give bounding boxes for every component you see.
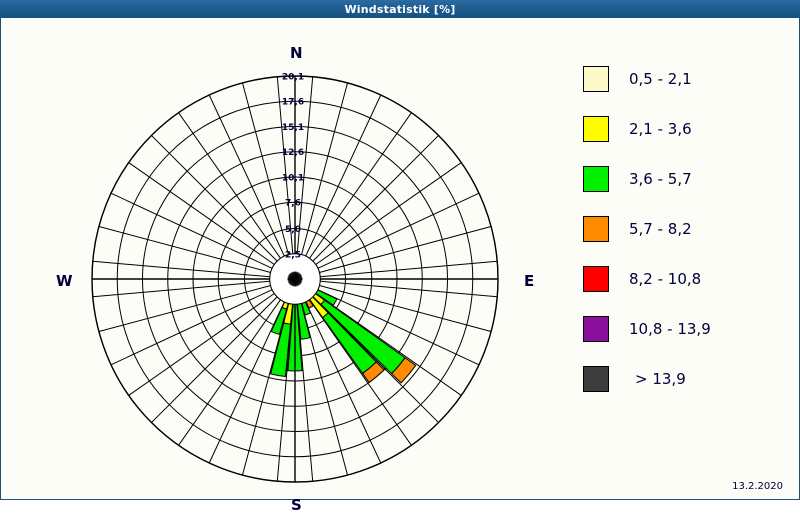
grid-spoke	[99, 286, 271, 332]
windrose-window: Windstatistik [%] 2,55,07,610,112,615,11…	[0, 0, 800, 500]
legend-item[interactable]: 10,8 - 13,9	[583, 304, 793, 354]
compass-label-east: E	[524, 272, 534, 290]
legend-item[interactable]: > 13,9	[583, 354, 793, 404]
radial-tick-label: 20,1	[282, 73, 304, 83]
compass-label-west: W	[56, 272, 73, 290]
calm-center	[270, 254, 320, 304]
grid-spoke	[320, 281, 497, 296]
grid-spoke	[151, 135, 277, 261]
radial-tick-label: 7,6	[285, 199, 301, 209]
grid-spoke	[320, 261, 497, 276]
legend-item-label: 2,1 - 3,6	[629, 120, 692, 138]
grid-spoke	[302, 83, 348, 255]
radial-tick-label: 12,6	[282, 148, 304, 158]
radial-tick-label: 15,1	[282, 123, 304, 133]
grid-spoke	[129, 293, 275, 395]
grid-spoke	[242, 303, 288, 475]
compass-label-south: S	[291, 496, 302, 514]
centre-spoke	[294, 272, 295, 279]
legend-color-swatch	[583, 266, 609, 292]
windrose-svg: 2,55,07,610,112,615,117,620,1	[1, 18, 561, 500]
legend-item[interactable]: 8,2 - 10,8	[583, 254, 793, 304]
legend-color-swatch	[583, 366, 609, 392]
grid-spoke	[151, 297, 277, 423]
speed-legend: 0,5 - 2,12,1 - 3,63,6 - 5,75,7 - 8,28,2 …	[583, 54, 793, 404]
grid-spoke	[313, 297, 439, 423]
legend-color-swatch	[583, 216, 609, 242]
radial-tick-label: 10,1	[282, 173, 304, 183]
legend-item-label: 8,2 - 10,8	[629, 270, 701, 288]
radial-tick-label: 17,6	[282, 98, 304, 108]
grid-spoke	[313, 135, 439, 261]
grid-spoke	[129, 163, 275, 265]
legend-item-label: 3,6 - 5,7	[629, 170, 692, 188]
radial-tick-label: 5,0	[285, 225, 301, 235]
radial-tick-label: 2,5	[285, 250, 301, 260]
footer-date: 13.2.2020	[732, 481, 783, 492]
window-client-area: 2,55,07,610,112,615,117,620,1 N S E W 0,…	[0, 18, 800, 500]
windrose-plot: 2,55,07,610,112,615,117,620,1	[1, 18, 561, 500]
window-title-bar: Windstatistik [%]	[0, 0, 800, 18]
legend-color-swatch	[583, 166, 609, 192]
window-title: Windstatistik [%]	[344, 3, 455, 16]
grid-spoke	[242, 83, 288, 255]
legend-item[interactable]: 3,6 - 5,7	[583, 154, 793, 204]
legend-item[interactable]: 0,5 - 2,1	[583, 54, 793, 104]
grid-spoke	[179, 300, 281, 446]
legend-color-swatch	[583, 66, 609, 92]
grid-spoke	[309, 113, 411, 259]
legend-color-swatch	[583, 316, 609, 342]
legend-color-swatch	[583, 116, 609, 142]
legend-item-label: 10,8 - 13,9	[629, 320, 711, 338]
grid-spoke	[99, 226, 271, 272]
grid-spoke	[93, 261, 270, 276]
grid-spoke	[316, 163, 462, 265]
compass-label-north: N	[290, 44, 303, 62]
legend-item[interactable]: 2,1 - 3,6	[583, 104, 793, 154]
legend-item-label: 5,7 - 8,2	[629, 220, 692, 238]
grid-spoke	[93, 281, 270, 296]
grid-spoke	[319, 226, 491, 272]
legend-item[interactable]: 5,7 - 8,2	[583, 204, 793, 254]
legend-item-label: 0,5 - 2,1	[629, 70, 692, 88]
grid-spoke	[179, 113, 281, 259]
grid-spoke	[316, 293, 462, 395]
legend-item-label: > 13,9	[635, 370, 686, 388]
